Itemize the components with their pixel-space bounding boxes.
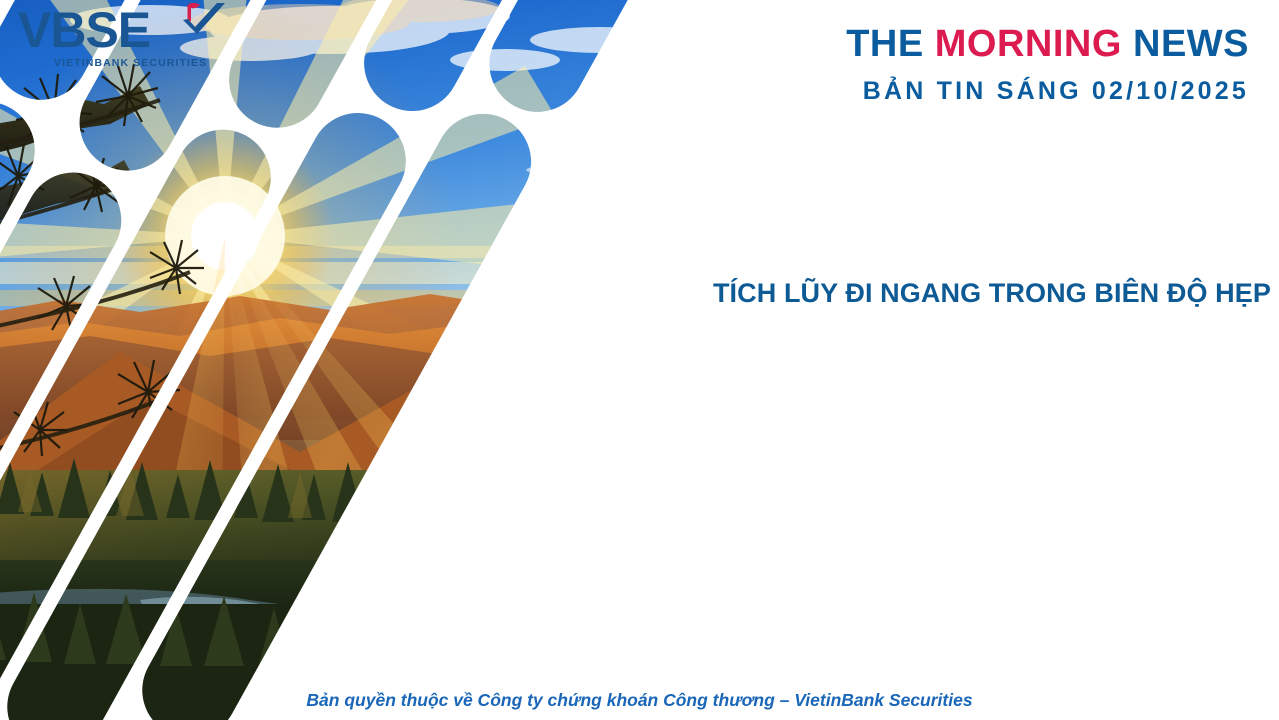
title-the: THE xyxy=(846,23,924,65)
headline: TÍCH LŨY ĐI NGANG TRONG BIÊN ĐỘ HẸP xyxy=(713,276,1271,310)
page-title: THE MORNING NEWS xyxy=(846,22,1249,66)
morning-news-slide: VBSE VIETINBANK SECURITIES THE MORNING N… xyxy=(0,0,1279,720)
cover-artwork xyxy=(0,0,790,720)
logo-subtitle: VIETINBANK SECURITIES xyxy=(18,56,228,70)
title-morning: MORNING xyxy=(935,23,1122,65)
logo-wordmark: VBSE xyxy=(18,4,150,56)
title-news: NEWS xyxy=(1133,23,1249,65)
copyright-footer: Bản quyền thuộc về Công ty chứng khoán C… xyxy=(0,688,1279,712)
photo-stripes xyxy=(0,0,790,720)
header-block: THE MORNING NEWS BẢN TIN SÁNG 02/10/2025 xyxy=(846,22,1249,108)
logo-wordmark-row: VBSE xyxy=(18,4,228,56)
bulletin-date: BẢN TIN SÁNG 02/10/2025 xyxy=(846,74,1249,108)
vbse-logo[interactable]: VBSE VIETINBANK SECURITIES xyxy=(18,4,228,70)
diagonal-capsule-collage xyxy=(0,0,790,720)
flag-checkmark-icon xyxy=(175,2,231,36)
